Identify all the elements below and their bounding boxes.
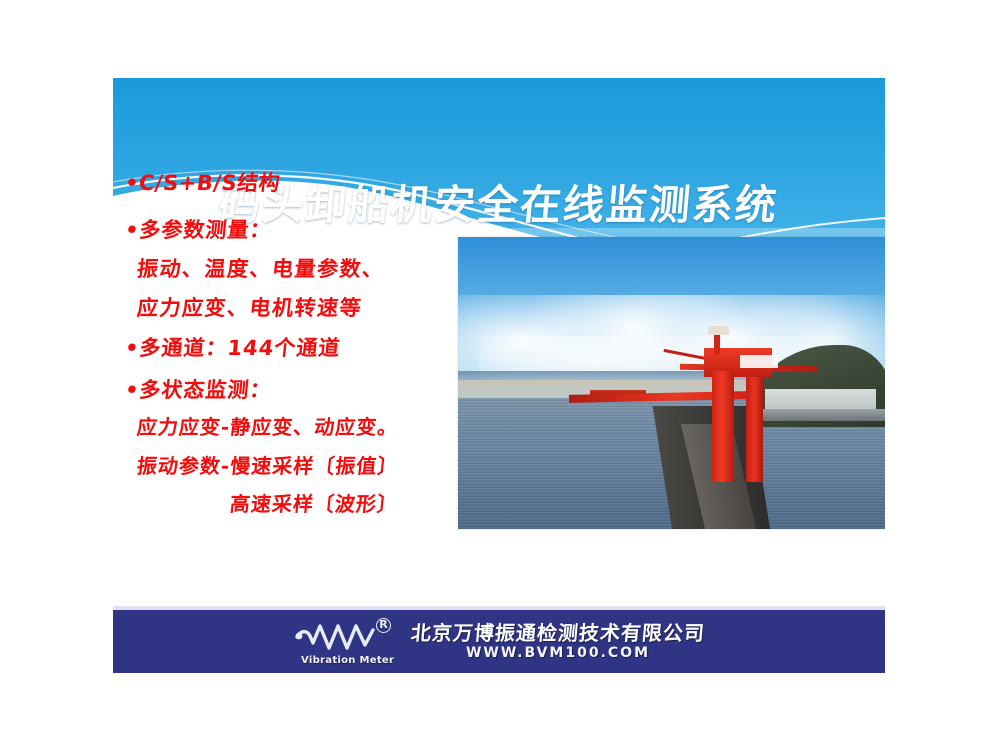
photo-crane-cab bbox=[708, 326, 729, 335]
company-website: WWW.BVM100.COM bbox=[466, 646, 650, 660]
footer-content: R Vibration Meter 北京万博振通检测技术有限公司 WWW.BVM… bbox=[293, 619, 705, 665]
photo-crane-leg-left bbox=[712, 371, 734, 482]
footer-band: R Vibration Meter 北京万博振通检测技术有限公司 WWW.BVM… bbox=[113, 610, 885, 673]
photo-crane-mast bbox=[714, 332, 720, 355]
bullet-channels: •多通道：144个通道 bbox=[124, 338, 486, 359]
screenshot-canvas: 码头卸船机安全在线监测系统 •C/S+B/S结构 •多参数测量： 振动、温度、电… bbox=[0, 0, 1000, 750]
text-strain-line: 应力应变-静应变、动应变。 bbox=[136, 417, 486, 437]
photo-right-jetty bbox=[744, 409, 885, 421]
text-vibration-line: 振动参数-慢速采样〔振值〕 bbox=[136, 456, 486, 476]
bullet-architecture: •C/S+B/S结构 bbox=[124, 173, 486, 194]
logo-wordmark: Vibration Meter bbox=[301, 655, 394, 666]
presentation-slide: 码头卸船机安全在线监测系统 •C/S+B/S结构 •多参数测量： 振动、温度、电… bbox=[113, 78, 885, 673]
registered-trademark-icon: R bbox=[376, 618, 391, 633]
bullet-multi-state-heading: •多状态监测： bbox=[124, 380, 486, 401]
bullet-multi-parameter-heading: •多参数测量： bbox=[124, 220, 486, 241]
company-name-cn: 北京万博振通检测技术有限公司 bbox=[410, 623, 706, 643]
text-parameters-line-1: 振动、温度、电量参数、 bbox=[136, 259, 486, 280]
slide-body: •C/S+B/S结构 •多参数测量： 振动、温度、电量参数、 应力应变、电机转速… bbox=[125, 173, 485, 515]
photo-crane-sign bbox=[740, 355, 778, 368]
vibration-meter-logo: R Vibration Meter bbox=[293, 619, 397, 665]
text-highspeed-line: 高速采样〔波形〕 bbox=[229, 494, 486, 514]
photo-crane-leg-right bbox=[746, 377, 763, 482]
footer-text-block: 北京万博振通检测技术有限公司 WWW.BVM100.COM bbox=[411, 623, 705, 660]
ship-unloader-photo bbox=[458, 237, 885, 529]
text-parameters-line-2: 应力应变、电机转速等 bbox=[136, 298, 486, 319]
